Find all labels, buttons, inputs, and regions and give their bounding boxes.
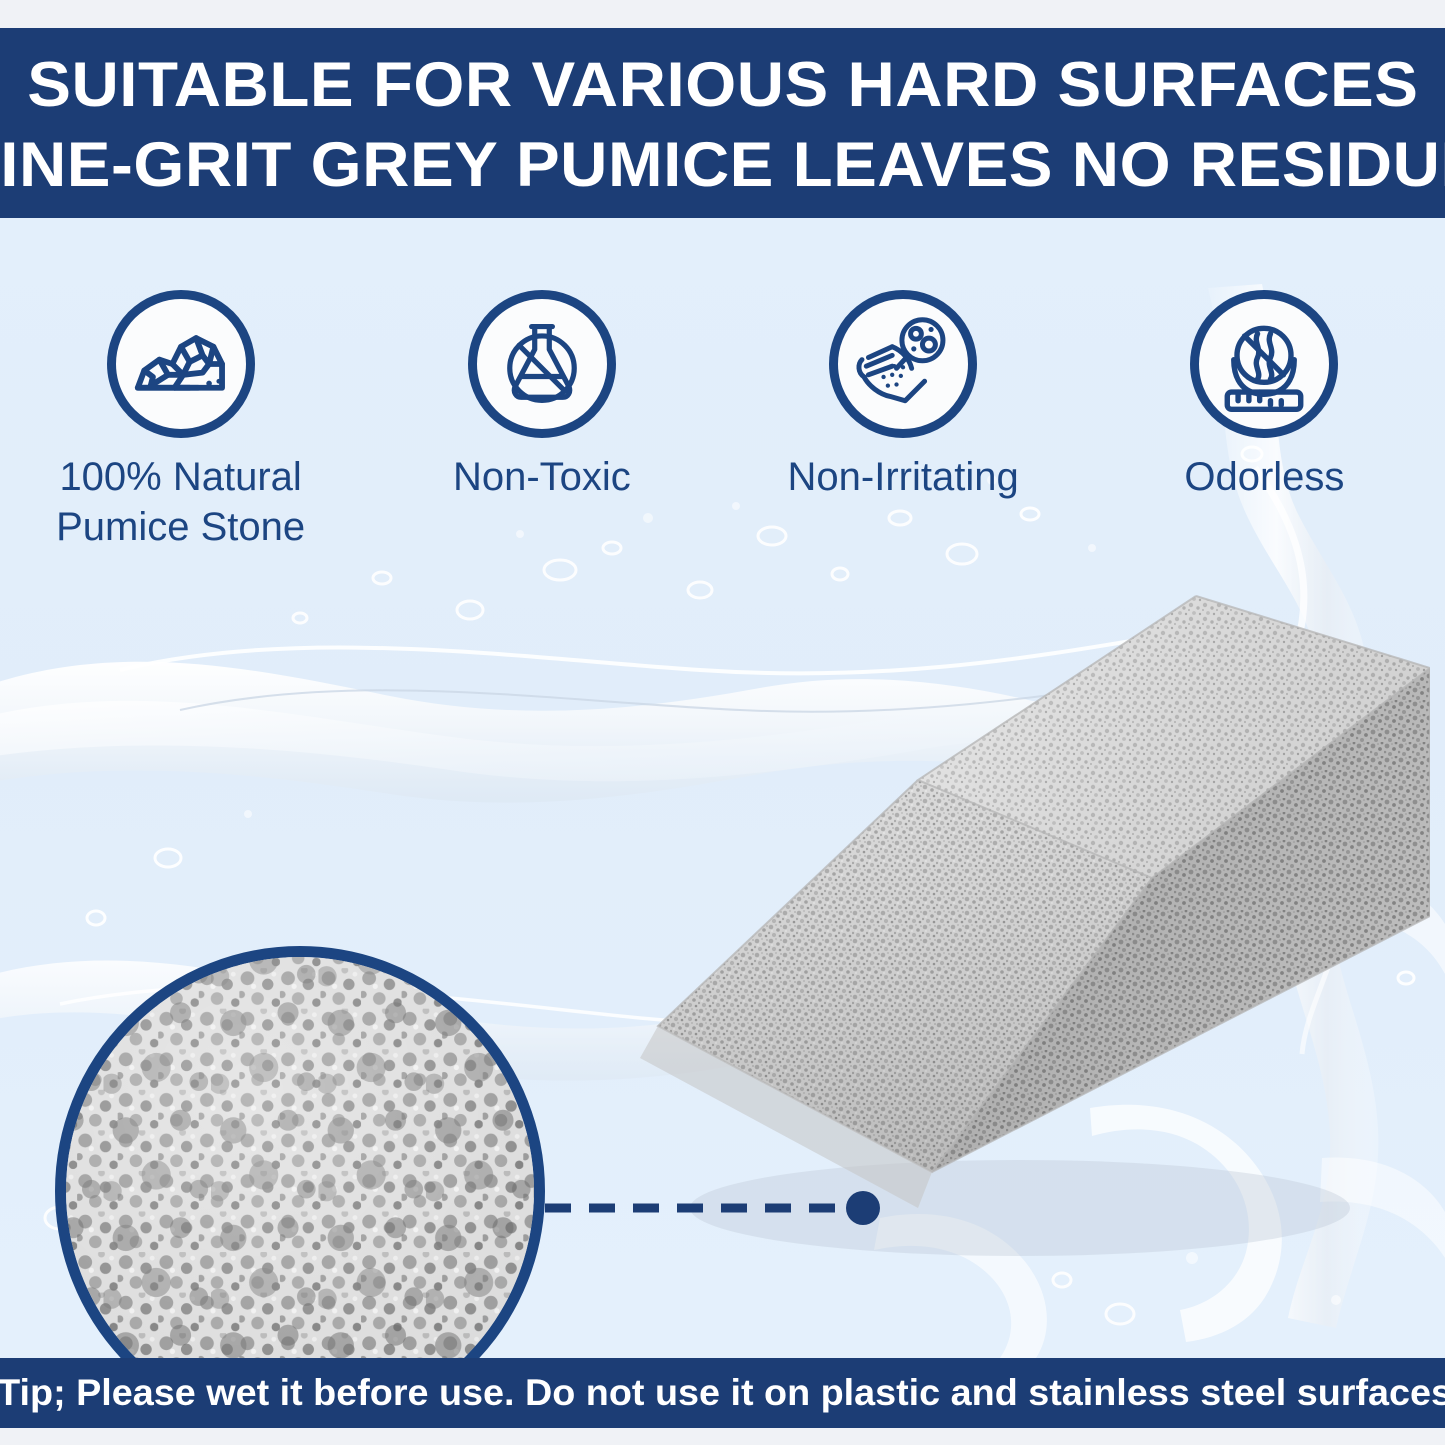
pumice-stone-block [600,518,1430,1298]
feature-badge-label: Odorless [1184,452,1344,502]
headline-line-1: SUITABLE FOR VARIOUS HARD SURFACES [27,45,1418,125]
badge-circle [468,290,616,438]
feature-badge-odorless: Odorless [1084,290,1445,560]
top-gutter [0,0,1445,28]
hand-skin-magnifier-icon [849,310,957,418]
feature-badge-label: Non-Toxic [453,452,631,502]
main-stage: 100% Natural Pumice Stone [0,218,1445,1358]
feature-badge-non-irritating: Non-Irritating [723,290,1084,560]
feature-badge-label: Non-Irritating [788,452,1019,502]
product-infographic: SUITABLE FOR VARIOUS HARD SURFACES FINE-… [0,0,1445,1445]
pumice-texture-detail [55,946,545,1358]
no-chemicals-flask-icon [490,312,594,416]
feature-badge-non-toxic: Non-Toxic [361,290,722,560]
badge-circle [829,290,977,438]
tip-bar: *Tip; Please wet it before use. Do not u… [0,1358,1445,1428]
feature-badge-label: 100% Natural Pumice Stone [56,452,305,552]
stacked-stones-icon [127,310,235,418]
badge-circle [1190,290,1338,438]
callout-dot [846,1191,880,1225]
no-odor-waves-icon [1210,310,1318,418]
tip-text: *Tip; Please wet it before use. Do not u… [0,1371,1445,1415]
badge-circle [107,290,255,438]
pumice-texture-callout-circle [55,946,545,1358]
headline-line-2: FINE-GRIT GREY PUMICE LEAVES NO RESIDUE [0,125,1445,205]
headline-banner: SUITABLE FOR VARIOUS HARD SURFACES FINE-… [0,28,1445,218]
feature-badge-row: 100% Natural Pumice Stone [0,290,1445,560]
bottom-gutter [0,1428,1445,1445]
feature-badge-natural-pumice: 100% Natural Pumice Stone [0,290,361,560]
callout-connector [545,1184,895,1232]
